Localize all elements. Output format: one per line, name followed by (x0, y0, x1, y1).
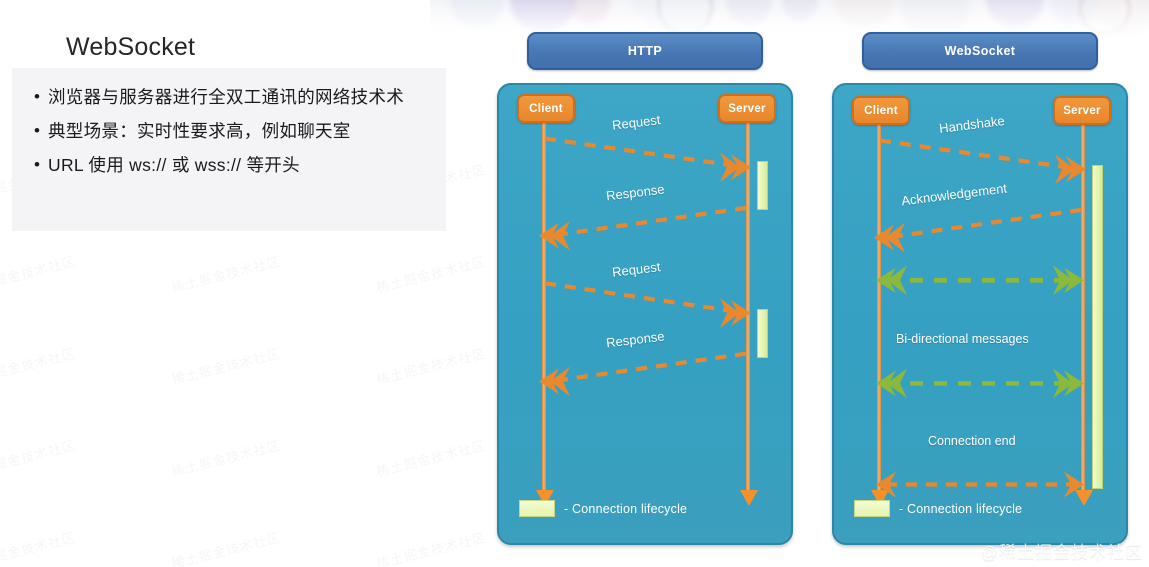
legend-swatch-icon (854, 500, 890, 517)
slide-canvas: 稀土掘金技术社区稀土掘金技术社区稀土掘金技术社区稀土掘金技术社区稀土掘金技术社区… (0, 0, 1149, 567)
http-message-arrows (499, 85, 791, 543)
background-watermark: 稀土掘金技术社区 (374, 251, 487, 297)
bullet-text: 浏览器与服务器进行全双工通讯的网络技术术 (48, 80, 404, 114)
legend-http: - Connection lifecycle (519, 500, 687, 517)
background-watermark: 稀土掘金技术社区 (0, 435, 78, 481)
list-item: • URL 使用 ws:// 或 wss:// 等开头 (26, 148, 432, 182)
websocket-message-arrows (834, 85, 1126, 543)
bullet-card: • 浏览器与服务器进行全双工通讯的网络技术术 • 典型场景：实时性要求高，例如聊… (12, 68, 446, 231)
list-item: • 浏览器与服务器进行全双工通讯的网络技术术 (26, 80, 432, 114)
legend-swatch-icon (519, 500, 555, 517)
background-watermark: 稀土掘金技术社区 (0, 527, 78, 567)
diagram-websocket-header: WebSocket (862, 32, 1098, 70)
background-watermark: 稀土掘金技术社区 (169, 343, 282, 389)
message-label-connection-end: Connection end (928, 434, 1016, 448)
legend-label: - Connection lifecycle (564, 502, 687, 516)
legend-websocket: - Connection lifecycle (854, 500, 1022, 517)
list-item: • 典型场景：实时性要求高，例如聊天室 (26, 114, 432, 148)
bullet-text: URL 使用 ws:// 或 wss:// 等开头 (48, 148, 300, 182)
background-watermark: 稀土掘金技术社区 (169, 527, 282, 567)
actor-client-websocket: Client (852, 96, 910, 125)
background-watermark: 稀土掘金技术社区 (374, 435, 487, 481)
background-watermark: 稀土掘金技术社区 (169, 251, 282, 297)
diagram-http-body: Request Response Request Response - Conn… (497, 83, 793, 545)
bullet-text: 典型场景：实时性要求高，例如聊天室 (48, 114, 351, 148)
page-title: WebSocket (66, 33, 195, 62)
bullet-marker: • (26, 114, 48, 148)
background-watermark: 稀土掘金技术社区 (169, 435, 282, 481)
actor-server-websocket: Server (1053, 96, 1111, 125)
background-watermark: 稀土掘金技术社区 (374, 527, 487, 567)
bullet-marker: • (26, 80, 48, 114)
message-label-bidirectional: Bi-directional messages (896, 332, 1029, 346)
background-watermark: 稀土掘金技术社区 (374, 343, 487, 389)
legend-label: - Connection lifecycle (899, 502, 1022, 516)
actor-server-http: Server (718, 94, 776, 123)
background-watermark: 稀土掘金技术社区 (0, 343, 78, 389)
brand-watermark: @稀土掘金技术社区 (981, 538, 1143, 563)
bullet-marker: • (26, 148, 48, 182)
background-watermark: 稀土掘金技术社区 (0, 251, 78, 297)
diagram-http-header: HTTP (527, 32, 763, 70)
actor-client-http: Client (517, 94, 575, 123)
diagram-websocket-body: Handshake Acknowledgement Bi-directional… (832, 83, 1128, 545)
